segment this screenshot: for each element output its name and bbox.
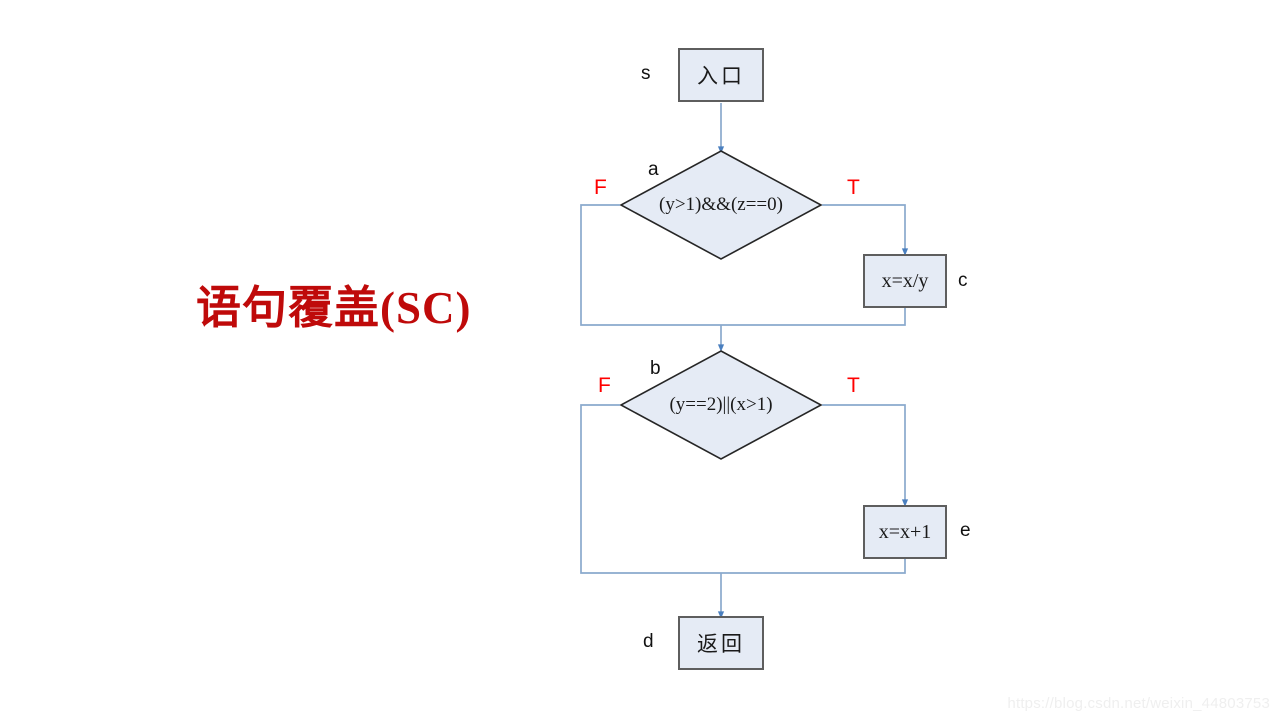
node-tag-a: a <box>648 160 659 179</box>
slide-canvas: 语句覆盖(SC) <box>0 0 1280 720</box>
node-tag-b: b <box>650 359 661 378</box>
edge-b-e <box>822 405 905 503</box>
node-entry[interactable]: 入口 <box>678 48 764 102</box>
node-tag-s: s <box>641 64 651 83</box>
branch-label-b-false: F <box>598 375 611 396</box>
edge-a-c <box>822 205 905 252</box>
edge-e-merge <box>721 559 905 573</box>
edge-c-merge <box>721 308 905 325</box>
branch-label-a-true: T <box>847 177 860 198</box>
node-process-e[interactable]: x=x+1 <box>863 505 947 559</box>
node-tag-d: d <box>643 632 654 651</box>
node-return[interactable]: 返回 <box>678 616 764 670</box>
node-tag-c: c <box>958 271 968 290</box>
watermark: https://blog.csdn.net/weixin_44803753 <box>1007 695 1270 712</box>
page-title: 语句覆盖(SC) <box>196 286 472 331</box>
branch-label-a-false: F <box>594 177 607 198</box>
node-process-c[interactable]: x=x/y <box>863 254 947 308</box>
node-tag-e: e <box>960 521 971 540</box>
branch-label-b-true: T <box>847 375 860 396</box>
